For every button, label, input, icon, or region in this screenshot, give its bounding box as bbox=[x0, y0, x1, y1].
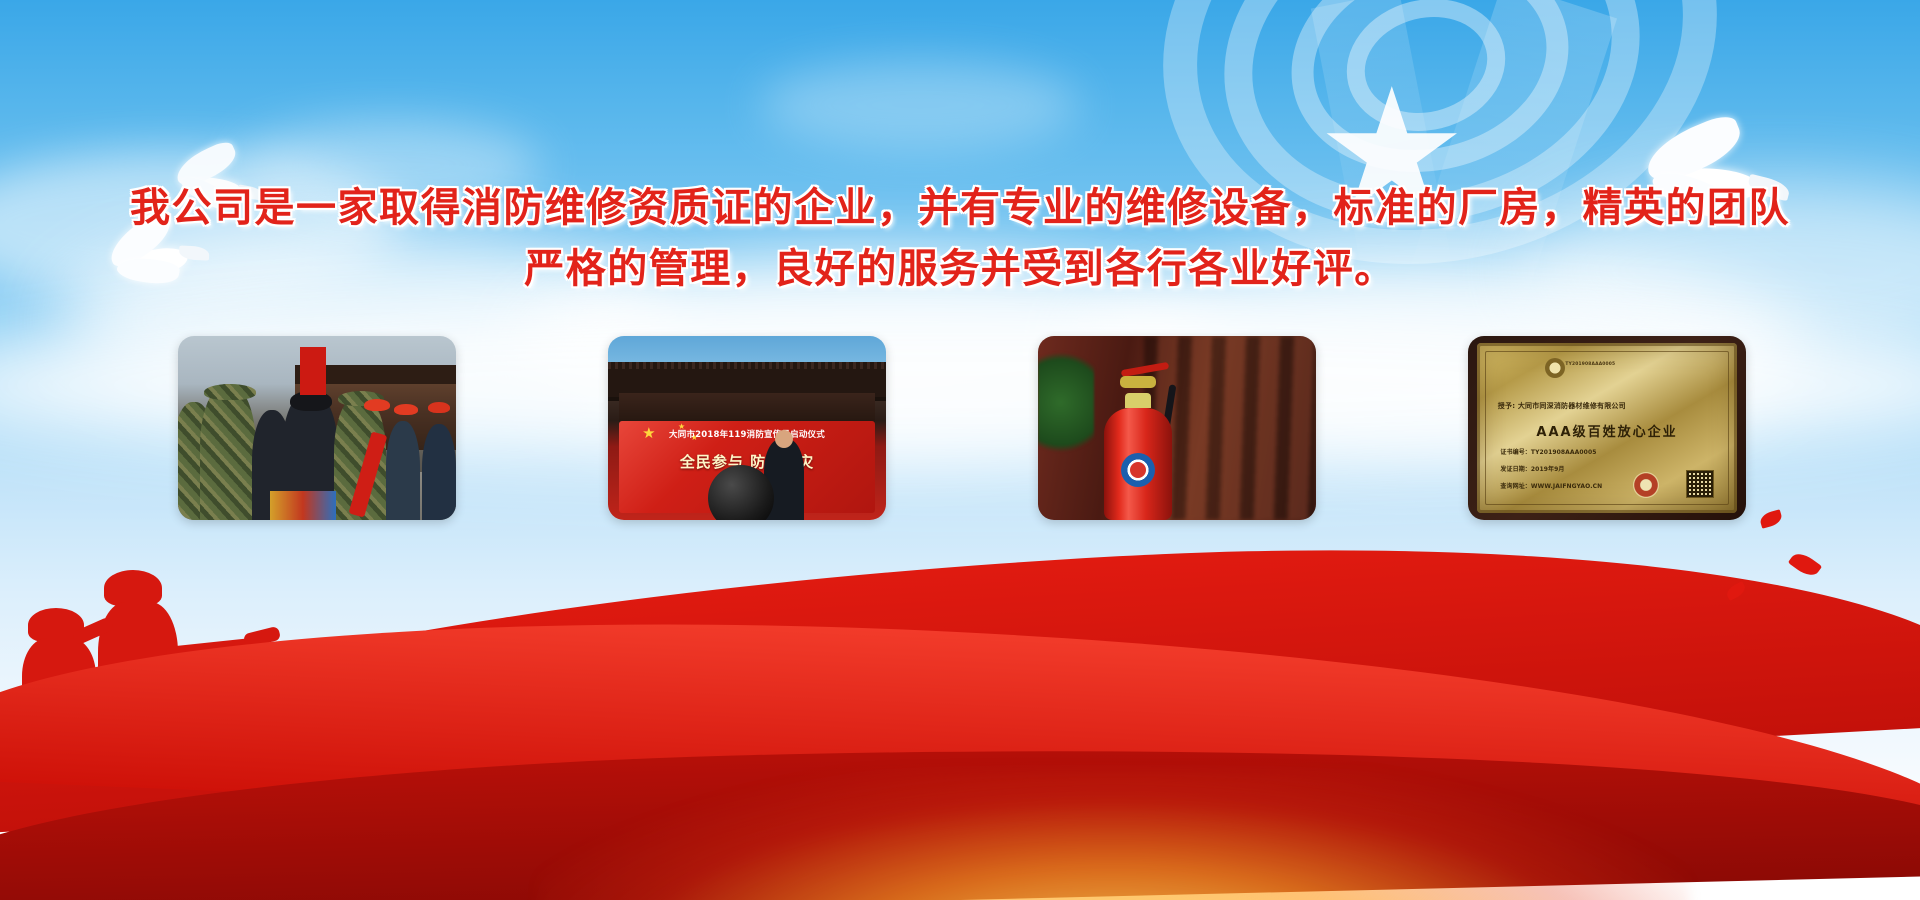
qr-code-icon bbox=[1686, 470, 1714, 498]
person-silhouette bbox=[200, 384, 256, 520]
plaque-issue-date: 发证日期：2019年9月 bbox=[1500, 464, 1564, 473]
temple-roof bbox=[1090, 712, 1250, 732]
red-stamp-icon bbox=[1633, 472, 1659, 498]
skyscraper bbox=[892, 612, 926, 732]
building bbox=[786, 670, 820, 732]
arch-gate-leg bbox=[660, 656, 678, 732]
fire-hose bbox=[166, 637, 263, 658]
petal-icon bbox=[1724, 581, 1747, 601]
building bbox=[1180, 692, 1200, 732]
pagoda-body bbox=[1008, 676, 1084, 732]
building bbox=[546, 682, 584, 732]
building bbox=[598, 670, 642, 732]
arch-gate bbox=[660, 716, 756, 732]
firefighter-body bbox=[98, 602, 178, 750]
red-ribbon-mid bbox=[0, 589, 1920, 866]
firefighter-silhouettes bbox=[20, 550, 240, 750]
footer-graphic bbox=[0, 470, 1920, 900]
headline-line-1: 我公司是一家取得消防维修资质证的企业，并有专业的维修设备，标准的厂房，精英的团队 bbox=[0, 178, 1920, 239]
cloud bbox=[760, 60, 1080, 150]
equipment-boxes bbox=[270, 491, 336, 520]
extinguisher-neck bbox=[1125, 393, 1151, 408]
red-cap-icon bbox=[394, 404, 418, 415]
headline-block: 我公司是一家取得消防维修资质证的企业，并有专业的维修设备，标准的厂房，精英的团队… bbox=[0, 178, 1920, 300]
plaque-award-to: 授予: 大同市同深消防器材维修有限公司 bbox=[1498, 401, 1626, 411]
red-cap-icon bbox=[364, 399, 390, 411]
city-skyline-silhouette bbox=[0, 572, 1920, 732]
red-cap-icon bbox=[428, 402, 450, 413]
photo-fire-inspection[interactable] bbox=[178, 336, 456, 520]
bridge-deck bbox=[390, 720, 576, 732]
golden-glow bbox=[538, 770, 1690, 900]
tower-spire bbox=[560, 646, 570, 732]
bridge-arch bbox=[400, 680, 560, 732]
factory-block bbox=[268, 688, 378, 732]
plant bbox=[1038, 351, 1094, 465]
low-building bbox=[470, 692, 540, 732]
tv-tower-ball bbox=[1450, 610, 1480, 640]
flag-icon bbox=[1529, 598, 1551, 611]
building bbox=[1404, 662, 1434, 732]
petal-icon bbox=[1788, 549, 1822, 580]
red-ribbon-back bbox=[0, 509, 1920, 836]
red-banner-vertical bbox=[300, 347, 326, 395]
building bbox=[1500, 666, 1526, 732]
swirl-ring-inner bbox=[1268, 0, 1593, 201]
person-silhouette bbox=[386, 421, 420, 520]
headline-line-2: 严格的管理，良好的服务并受到各行各业好评。 bbox=[0, 239, 1920, 300]
plaque-cert-no: 证书编号：TY201908AAA0005 bbox=[1500, 447, 1596, 456]
skyscraper bbox=[862, 628, 888, 732]
extinguisher-label-icon bbox=[1121, 453, 1155, 487]
photo-119-ceremony[interactable]: ★ ★ ★ 大同市2018年119消防宣传月启动仪式 全民参与 防治火灾 bbox=[608, 336, 886, 520]
temple-body bbox=[1104, 674, 1236, 732]
firefighter-helmet bbox=[28, 608, 84, 642]
photo-extinguisher[interactable] bbox=[1038, 336, 1316, 520]
award-plaque: TY201908AAA0005 授予: 大同市同深消防器材维修有限公司 AAA级… bbox=[1477, 343, 1737, 513]
building bbox=[1530, 684, 1550, 732]
skyscraper bbox=[828, 604, 858, 732]
banner-title-line-1: 大同市2018年119消防宣传月启动仪式 bbox=[619, 428, 875, 440]
chimney bbox=[322, 658, 338, 732]
certification-seal-icon bbox=[1545, 358, 1565, 378]
cap-icon bbox=[204, 384, 256, 400]
photo-aaa-plaque[interactable]: TY201908AAA0005 授予: 大同市同深消防器材维修有限公司 AAA级… bbox=[1468, 336, 1746, 520]
building bbox=[960, 672, 982, 732]
person-silhouette bbox=[422, 424, 456, 520]
firefighter-helmet bbox=[104, 570, 162, 606]
extinguisher-head bbox=[1120, 376, 1156, 388]
red-ribbon-front bbox=[0, 725, 1920, 900]
plaque-title: AAA级百姓放心企业 bbox=[1477, 421, 1737, 440]
dome-roof bbox=[1260, 686, 1390, 732]
dome-body bbox=[1272, 680, 1380, 732]
promo-banner: ★ 我公司是一家取得消防维修资质证的企业，并有专业的维修设备，标准的厂房，精英的 bbox=[0, 0, 1920, 900]
plaque-query-url: 查询网址：WWW.JAIFNGYAO.CN bbox=[1500, 481, 1602, 490]
building bbox=[930, 654, 956, 732]
tv-tower-mast bbox=[1460, 574, 1469, 732]
tv-tower-ball bbox=[1454, 658, 1476, 680]
pagoda-roof bbox=[1000, 698, 1092, 732]
firefighter-arm bbox=[71, 616, 115, 646]
fire-hose-nozzle bbox=[243, 626, 281, 648]
chimney bbox=[300, 640, 316, 732]
flag-pole bbox=[1526, 598, 1529, 668]
photo-strip: ★ ★ ★ 大同市2018年119消防宣传月启动仪式 全民参与 防治火灾 bbox=[178, 336, 1746, 520]
petal-icon bbox=[1758, 509, 1783, 529]
seal-code-text: TY201908AAA0005 bbox=[1565, 362, 1615, 367]
swirl-ring-core bbox=[1333, 0, 1520, 147]
arch-gate-leg bbox=[738, 656, 756, 732]
firefighter-body bbox=[22, 638, 96, 750]
